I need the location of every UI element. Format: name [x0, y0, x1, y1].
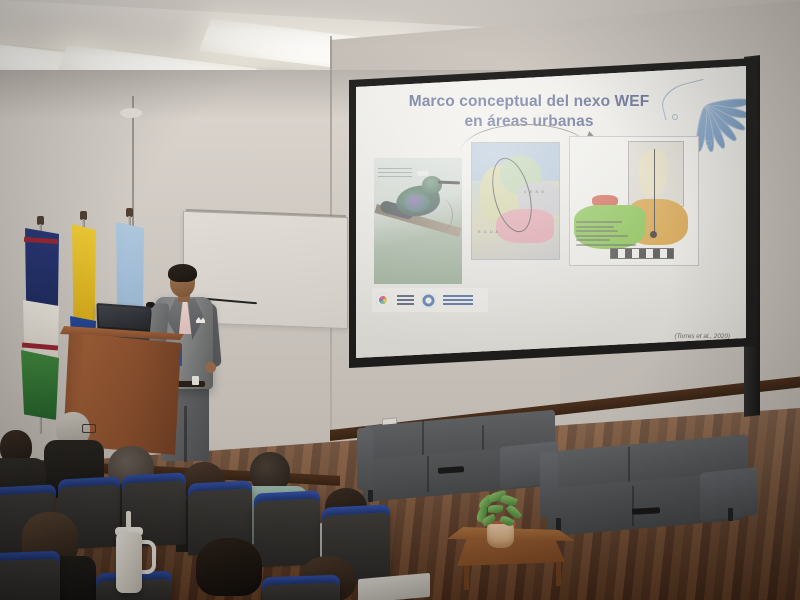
eyeglasses-icon	[82, 424, 96, 433]
inset-region	[639, 150, 667, 196]
slide-citation: (Torres et al., 2020)	[674, 333, 730, 340]
slide-logos	[372, 288, 488, 312]
presenter-leg-gap	[184, 406, 187, 462]
flag-green-band	[21, 350, 59, 420]
sofa-leg	[556, 518, 561, 531]
bird-head	[422, 176, 442, 194]
presenter-hair	[168, 264, 197, 282]
attendee-front-center	[196, 538, 262, 596]
map-scale-bar	[610, 248, 674, 259]
presentation-slide: Marco conceptual del nexo WEF en áreas u…	[356, 66, 746, 358]
colombia-venezuela-map: V E N E E C U A	[471, 142, 560, 260]
slide-title-line1: Marco conceptual del nexo WEF	[386, 92, 672, 112]
hummingbird-photo	[374, 158, 462, 284]
auditorium-seat[interactable]	[262, 583, 340, 600]
handheld-clicker	[192, 376, 199, 385]
map-legend	[576, 221, 686, 251]
logo-wordmark	[397, 295, 414, 306]
photo-credit-text	[378, 168, 412, 180]
bird-wing-arc	[426, 198, 453, 232]
cushion-seam	[427, 456, 429, 492]
sunburst-logo-icon	[376, 293, 390, 307]
flag-colombia-yellow	[72, 224, 96, 328]
sofa-arm-left	[540, 452, 558, 518]
presenter-right-hand	[205, 362, 216, 373]
ceiling-mount	[120, 108, 142, 118]
projection-screen[interactable]: Marco conceptual del nexo WEF en áreas u…	[356, 66, 746, 358]
logo-wordmark	[443, 295, 473, 306]
landcover-map	[569, 136, 699, 266]
plant-pot	[487, 524, 514, 548]
bird-crown	[417, 171, 429, 176]
auditorium-seat[interactable]	[0, 559, 60, 600]
university-seal-icon	[421, 293, 436, 308]
sofa-leg	[368, 490, 373, 502]
presentation-room-photo: Marco conceptual del nexo WEF en áreas u…	[0, 0, 800, 600]
sofa-arm-left	[357, 428, 373, 490]
laptop-screen	[99, 305, 151, 330]
cushion-seam	[632, 486, 634, 526]
map-inset	[628, 141, 684, 207]
auditorium-seat[interactable]	[254, 498, 320, 567]
sofa-leg	[728, 508, 733, 521]
white-tumbler[interactable]	[116, 533, 142, 593]
